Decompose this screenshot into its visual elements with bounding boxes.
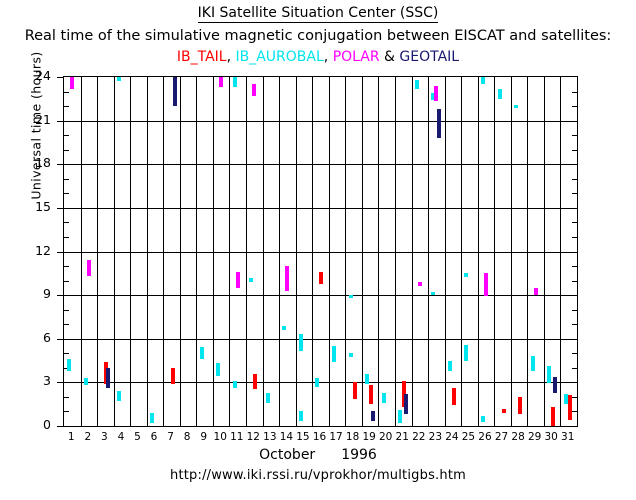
y-axis-minor-tick (64, 193, 69, 194)
y-axis-minor-tick (572, 92, 577, 93)
legend: IB_TAIL, IB_AUROBAL, POLAR & GEOTAIL (0, 49, 636, 65)
data-mark (434, 86, 438, 101)
y-axis-minor-tick (64, 237, 69, 238)
data-mark (173, 77, 177, 106)
data-mark (150, 413, 154, 423)
x-axis-label: 13 (261, 432, 279, 443)
legend-separator-1: , (227, 49, 231, 65)
x-axis-label: 9 (195, 432, 213, 443)
data-mark (282, 326, 286, 330)
y-axis-minor-tick (572, 150, 577, 151)
data-mark (249, 278, 253, 282)
data-mark (319, 272, 323, 284)
x-axis-label: 23 (426, 432, 444, 443)
data-mark (349, 295, 353, 298)
data-mark (481, 77, 485, 84)
y-axis-minor-tick (572, 222, 577, 223)
data-mark (498, 89, 502, 99)
legend-item-ib-aurobal: IB_AUROBAL (236, 49, 324, 65)
y-axis-minor-tick (64, 281, 69, 282)
data-mark (547, 366, 551, 383)
y-axis-minor-tick (64, 411, 69, 412)
y-axis-minor-tick (64, 353, 69, 354)
y-axis-label: 15 (25, 201, 51, 214)
data-mark (418, 282, 422, 286)
data-mark (106, 368, 110, 388)
data-mark (371, 411, 375, 421)
x-axis-label: 27 (493, 432, 511, 443)
y-axis-minor-tick (572, 310, 577, 311)
data-mark (216, 363, 220, 376)
y-axis-minor-tick (572, 135, 577, 136)
y-axis-minor-tick (64, 310, 69, 311)
y-axis-minor-tick (572, 281, 577, 282)
y-axis-minor-tick (572, 411, 577, 412)
data-mark (415, 80, 419, 89)
data-mark (299, 334, 303, 351)
data-mark (452, 388, 456, 405)
y-axis-tick (57, 426, 64, 427)
data-mark (219, 77, 223, 87)
data-mark (299, 411, 303, 421)
y-axis-minor-tick (64, 266, 69, 267)
data-mark (67, 359, 71, 371)
data-mark (353, 382, 357, 399)
legend-separator-amp: & (384, 49, 395, 65)
data-mark (437, 109, 441, 138)
x-axis-label: 31 (559, 432, 577, 443)
data-mark (484, 273, 488, 296)
y-axis-minor-tick (64, 135, 69, 136)
y-axis-minor-tick (64, 397, 69, 398)
data-mark (431, 292, 435, 295)
x-axis-title: October1996 (0, 447, 636, 463)
x-axis-label: 7 (162, 432, 180, 443)
grid-line-horizontal (64, 164, 577, 165)
x-axis-label: 12 (244, 432, 262, 443)
y-axis-minor-tick (64, 222, 69, 223)
x-axis-label: 10 (211, 432, 229, 443)
data-mark (117, 391, 121, 401)
x-axis-label: 11 (228, 432, 246, 443)
data-mark (553, 377, 557, 393)
data-mark (171, 368, 175, 384)
x-axis-label: 20 (377, 432, 395, 443)
y-axis-label: 6 (25, 332, 51, 345)
data-mark (404, 394, 408, 414)
data-mark (266, 393, 270, 403)
data-mark (236, 272, 240, 288)
data-mark (233, 381, 237, 388)
x-axis-label: 21 (393, 432, 411, 443)
data-mark (382, 393, 386, 403)
grid-line-horizontal (64, 208, 577, 209)
y-axis-minor-tick (572, 179, 577, 180)
x-axis-label: 19 (360, 432, 378, 443)
x-axis-label: 2 (79, 432, 97, 443)
data-mark (481, 416, 485, 422)
data-mark (531, 356, 535, 371)
y-axis-minor-tick (572, 324, 577, 325)
y-axis-minor-tick (572, 266, 577, 267)
grid-line-horizontal (64, 339, 577, 340)
x-axis-month: October (259, 447, 315, 463)
x-axis-label: 18 (344, 432, 362, 443)
y-axis-minor-tick (64, 106, 69, 107)
data-mark (502, 409, 506, 413)
y-axis-minor-tick (64, 179, 69, 180)
x-axis-year: 1996 (341, 447, 377, 463)
data-mark (568, 395, 572, 420)
data-mark (514, 105, 518, 108)
y-axis-label: 24 (25, 70, 51, 83)
y-axis-tick (57, 339, 64, 340)
data-mark (200, 347, 204, 359)
x-axis-label: 1 (62, 432, 80, 443)
data-mark (398, 410, 402, 423)
y-axis-label: 3 (25, 375, 51, 388)
data-mark (117, 77, 121, 81)
x-axis-label: 28 (509, 432, 527, 443)
y-axis-label: 18 (25, 157, 51, 170)
y-axis-tick (57, 252, 64, 253)
x-axis-label: 26 (476, 432, 494, 443)
data-mark (253, 374, 257, 389)
grid-line-horizontal (64, 382, 577, 383)
grid-line-horizontal (64, 121, 577, 122)
x-axis-label: 24 (443, 432, 461, 443)
data-mark (534, 288, 538, 295)
grid-line-horizontal (64, 252, 577, 253)
x-axis-label: 8 (178, 432, 196, 443)
y-axis-minor-tick (64, 92, 69, 93)
x-axis-label: 25 (459, 432, 477, 443)
plot-area (63, 76, 578, 427)
y-axis-tick (57, 295, 64, 296)
legend-separator-2: , (324, 49, 328, 65)
data-mark (252, 84, 256, 96)
y-axis-label: 21 (25, 114, 51, 127)
data-mark (315, 378, 319, 387)
x-axis-label: 5 (128, 432, 146, 443)
data-mark (365, 374, 369, 384)
data-mark (87, 260, 91, 276)
data-mark (464, 345, 468, 361)
data-mark (448, 361, 452, 371)
data-mark (464, 273, 468, 277)
x-axis-label: 15 (294, 432, 312, 443)
data-mark (70, 77, 74, 89)
y-axis-tick (57, 77, 64, 78)
data-mark (84, 378, 88, 385)
data-mark (369, 385, 373, 404)
x-axis-label: 16 (311, 432, 329, 443)
footer-url: http://www.iki.rssi.ru/vprokhor/multigbs… (0, 468, 636, 483)
data-mark (551, 407, 555, 426)
y-axis-tick (57, 164, 64, 165)
x-axis-label: 3 (95, 432, 113, 443)
y-axis-minor-tick (64, 150, 69, 151)
data-mark (349, 353, 353, 357)
y-axis-minor-tick (572, 106, 577, 107)
data-mark (233, 77, 237, 87)
x-axis-label: 4 (112, 432, 130, 443)
x-axis-label: 29 (526, 432, 544, 443)
y-axis-minor-tick (572, 368, 577, 369)
x-axis-label: 22 (410, 432, 428, 443)
page-subtitle: Real time of the simulative magnetic con… (0, 28, 636, 44)
y-axis-label: 0 (25, 419, 51, 432)
legend-item-ib-tail: IB_TAIL (177, 49, 227, 65)
y-axis-tick (57, 208, 64, 209)
data-mark (285, 266, 289, 291)
y-axis-label: 12 (25, 245, 51, 258)
legend-item-polar: POLAR (333, 49, 380, 65)
page-title: IKI Satellite Situation Center (SSC) (0, 5, 636, 21)
y-axis-tick (57, 382, 64, 383)
x-axis-label: 6 (145, 432, 163, 443)
x-axis-label: 14 (277, 432, 295, 443)
x-axis-label: 17 (327, 432, 345, 443)
data-mark (518, 397, 522, 414)
y-axis-minor-tick (64, 324, 69, 325)
y-axis-label: 9 (25, 288, 51, 301)
y-axis-minor-tick (572, 193, 577, 194)
x-axis-label: 30 (542, 432, 560, 443)
y-axis-minor-tick (572, 237, 577, 238)
grid-line-horizontal (64, 295, 577, 296)
legend-item-geotail: GEOTAIL (399, 49, 459, 65)
y-axis-tick (57, 121, 64, 122)
y-axis-minor-tick (572, 397, 577, 398)
page-title-text: IKI Satellite Situation Center (SSC) (198, 5, 439, 23)
chart-page: IKI Satellite Situation Center (SSC) Rea… (0, 0, 636, 500)
data-mark (332, 346, 336, 362)
y-axis-minor-tick (572, 353, 577, 354)
